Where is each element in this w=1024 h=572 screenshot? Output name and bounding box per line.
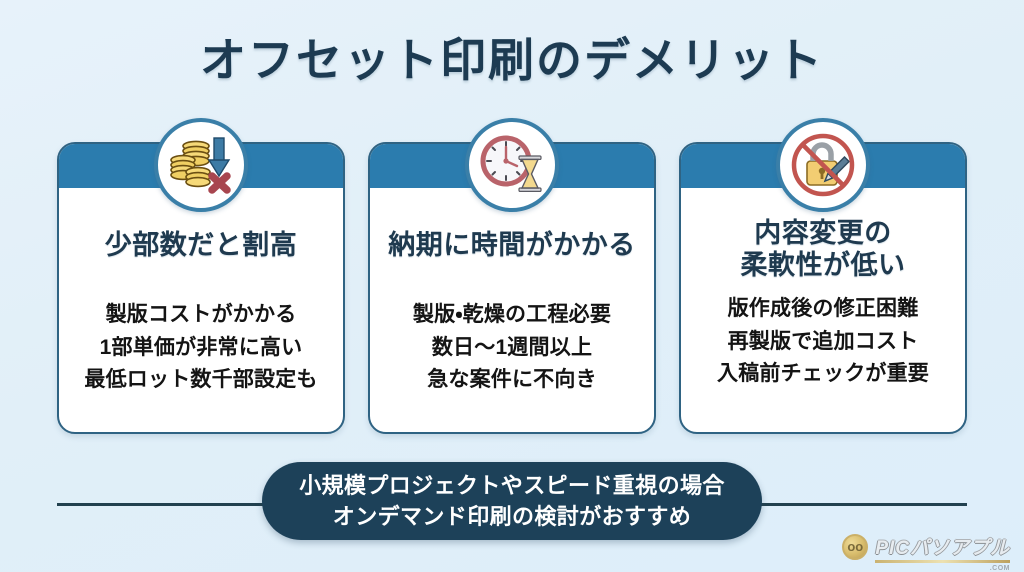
card-heading-line1: 納期に時間がかかる (388, 230, 636, 260)
card-point: 版作成後の修正困難 (728, 296, 919, 322)
card-row: 少部数だと割高 製版コストがかかる 1部単価が非常に高い 最低ロット数千部設定も (57, 142, 967, 434)
card-point: 再製版で追加コスト (728, 329, 919, 355)
coins-down-arrow-cross-icon (154, 118, 248, 212)
card-points: 版作成後の修正困難 再製版で追加コスト 入稿前チェックが重要 (681, 296, 965, 387)
card-lead-time[interactable]: 納期に時間がかかる 製版・乾燥の工程必要 数日〜1週間以上 急な案件に不向き (368, 142, 656, 434)
watermark-subtext: .COM (990, 565, 1010, 572)
no-edit-lock-pencil-icon (776, 118, 870, 212)
card-heading-line1: 内容変更の (681, 218, 965, 250)
watermark-label: PICパソアプル (875, 538, 1010, 559)
card-point: 数日〜1週間以上 (432, 335, 592, 361)
card-points: 製版・乾燥の工程必要 数日〜1週間以上 急な案件に不向き (370, 302, 654, 393)
card-cost[interactable]: 少部数だと割高 製版コストがかかる 1部単価が非常に高い 最低ロット数千部設定も (57, 142, 345, 434)
watermark-underline (875, 560, 1010, 563)
card-points: 製版コストがかかる 1部単価が非常に高い 最低ロット数千部設定も (59, 302, 343, 393)
card-point: 製版コストがかかる (106, 302, 297, 328)
footer-callout-banner: 小規模プロジェクトやスピード重視の場合 オンデマンド印刷の検討がおすすめ (262, 462, 762, 540)
card-point: 製版・乾燥の工程必要 (413, 302, 611, 328)
footer-line-2: オンデマンド印刷の検討がおすすめ (333, 501, 691, 532)
card-point: 入稿前チェックが重要 (717, 361, 929, 387)
card-heading-line1: 少部数だと割高 (105, 230, 298, 260)
card-point: 最低ロット数千部設定も (84, 367, 317, 393)
watermark: oo PICパソアプル .COM (842, 533, 1010, 560)
card-point: 1部単価が非常に高い (100, 335, 303, 361)
page-title: オフセット印刷のデメリット (0, 24, 1024, 90)
card-heading-line2: 柔軟性が低い (681, 250, 965, 282)
card-heading: 納期に時間がかかる (370, 230, 654, 262)
footer-line-1: 小規模プロジェクトやスピード重視の場合 (299, 470, 725, 501)
watermark-logo-icon: oo (842, 534, 868, 560)
card-flexibility[interactable]: 内容変更の 柔軟性が低い 版作成後の修正困難 再製版で追加コスト 入稿前チェック… (679, 142, 967, 434)
clock-hourglass-icon (465, 118, 559, 212)
infographic-canvas: オフセット印刷のデメリット (0, 0, 1024, 572)
card-heading: 少部数だと割高 (59, 230, 343, 262)
watermark-text: PICパソアプル .COM (875, 533, 1010, 560)
card-point: 急な案件に不向き (427, 367, 597, 393)
card-heading: 内容変更の 柔軟性が低い (681, 218, 965, 282)
